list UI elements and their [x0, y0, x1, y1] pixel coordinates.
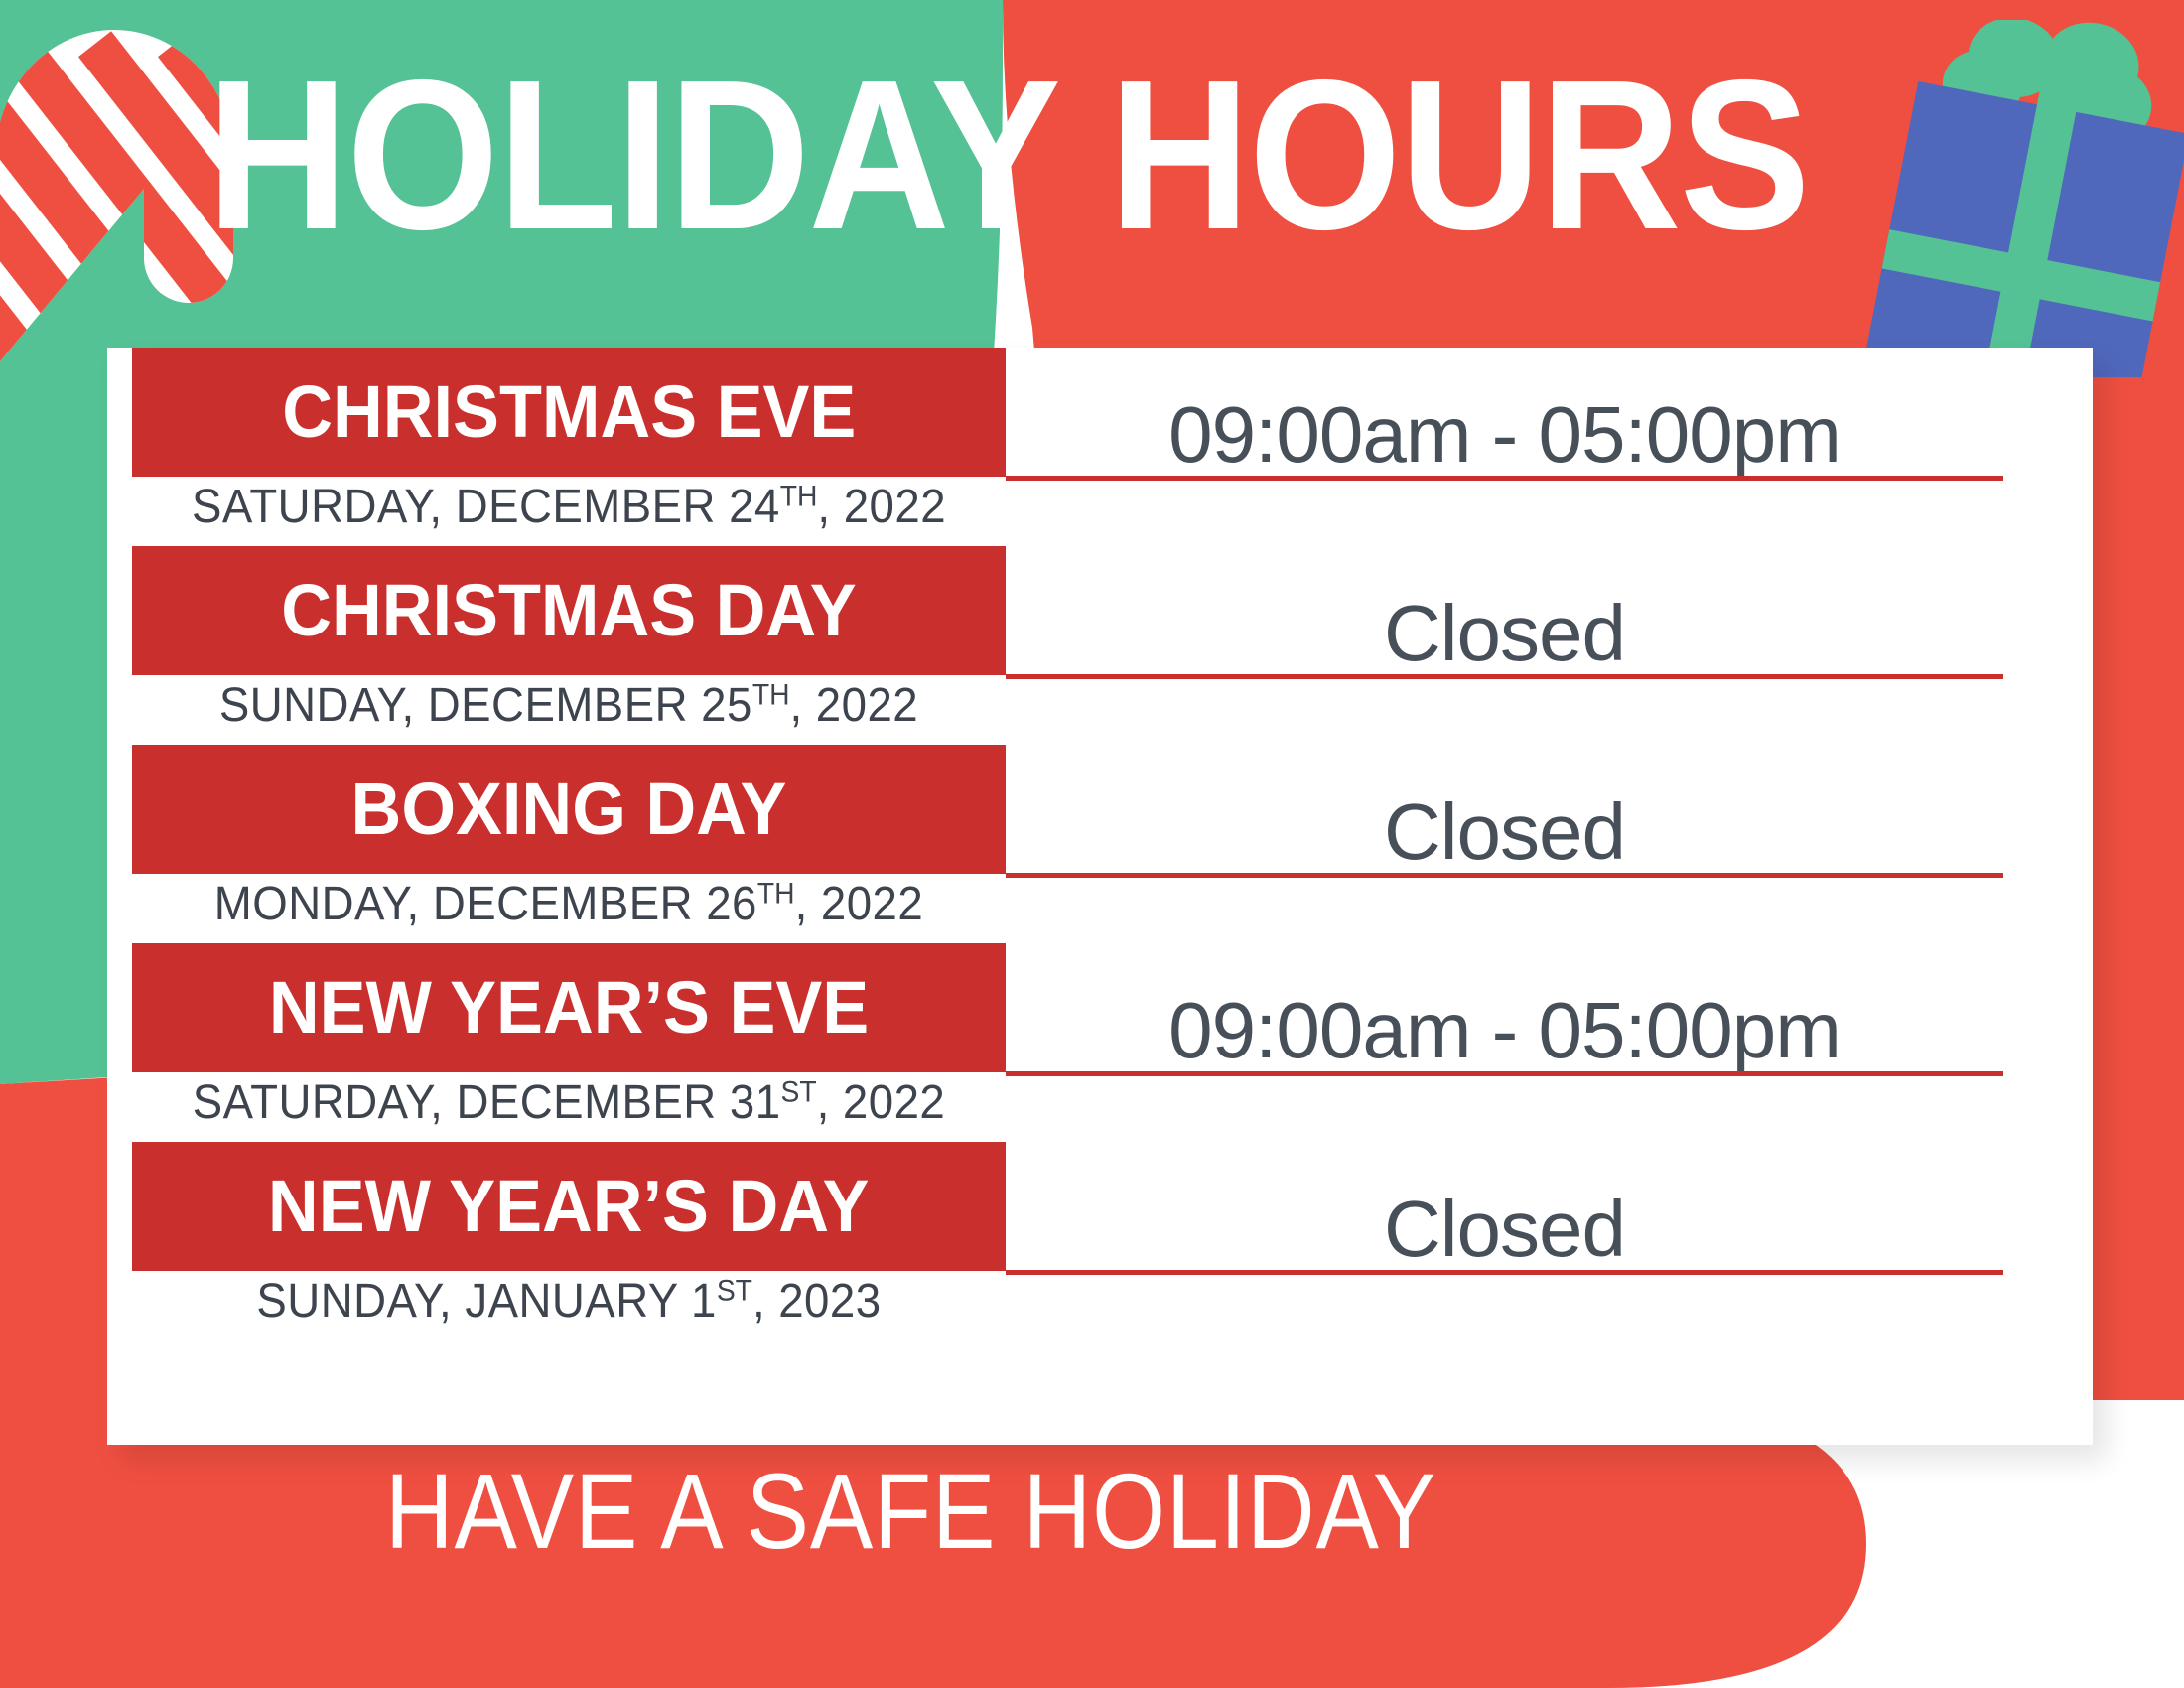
- row-hours-wrap: 09:00am - 05:00pm: [1006, 348, 2093, 477]
- row-date-ordinal: TH: [757, 878, 795, 911]
- row-date-ordinal: ST: [781, 1076, 817, 1109]
- row-date-ordinal: TH: [752, 679, 790, 712]
- row-date: SUNDAY, DECEMBER 25TH, 2022: [154, 678, 984, 733]
- row-hours-wrap: Closed: [1006, 546, 2093, 675]
- row-label-bar: CHRISTMAS EVE: [132, 348, 1006, 477]
- row-date-prefix: MONDAY, DECEMBER 26: [214, 878, 757, 930]
- row-hours-wrap: Closed: [1006, 745, 2093, 874]
- row-underline: [1006, 873, 2003, 878]
- row-underline: [1006, 674, 2003, 679]
- row-date-suffix: , 2022: [790, 679, 919, 732]
- schedule-rows: CHRISTMAS EVE SATURDAY, DECEMBER 24TH, 2…: [107, 348, 2093, 1445]
- row-hours-value: Closed: [1006, 1188, 2003, 1271]
- schedule-card: CHRISTMAS EVE SATURDAY, DECEMBER 24TH, 2…: [107, 348, 2093, 1445]
- row-date: SUNDAY, JANUARY 1ST, 2023: [154, 1274, 984, 1329]
- row-hours-wrap: 09:00am - 05:00pm: [1006, 943, 2093, 1072]
- page-title: HOLIDAY HOURS: [80, 48, 1935, 261]
- row-hours-value: Closed: [1006, 790, 2003, 874]
- row-date-ordinal: ST: [717, 1275, 752, 1308]
- table-row: BOXING DAY MONDAY, DECEMBER 26TH, 2022 C…: [107, 745, 2093, 943]
- row-date-prefix: SATURDAY, DECEMBER 31: [193, 1076, 781, 1129]
- row-date-prefix: SATURDAY, DECEMBER 24: [192, 481, 780, 533]
- row-label-bar: NEW YEAR’S EVE: [132, 943, 1006, 1072]
- row-label-bar: NEW YEAR’S DAY: [132, 1142, 1006, 1271]
- row-date: MONDAY, DECEMBER 26TH, 2022: [154, 877, 984, 931]
- table-row: CHRISTMAS EVE SATURDAY, DECEMBER 24TH, 2…: [107, 348, 2093, 546]
- row-holiday-name: NEW YEAR’S DAY: [268, 1170, 870, 1243]
- row-date-suffix: , 2022: [817, 481, 946, 533]
- holiday-hours-poster: HOLIDAY HOURS CHRISTMAS EVE SATURDAY, DE…: [0, 0, 2184, 1688]
- row-hours-wrap: Closed: [1006, 1142, 2093, 1271]
- row-date-ordinal: TH: [780, 481, 818, 513]
- table-row: NEW YEAR’S DAY SUNDAY, JANUARY 1ST, 2023…: [107, 1142, 2093, 1340]
- row-hours-value: 09:00am - 05:00pm: [1006, 393, 2003, 477]
- row-date: SATURDAY, DECEMBER 31ST, 2022: [154, 1075, 984, 1130]
- row-label-bar: CHRISTMAS DAY: [132, 546, 1006, 675]
- row-date-prefix: SUNDAY, DECEMBER 25: [219, 679, 752, 732]
- row-label-bar: BOXING DAY: [132, 745, 1006, 874]
- row-hours-value: 09:00am - 05:00pm: [1006, 989, 2003, 1072]
- row-date: SATURDAY, DECEMBER 24TH, 2022: [154, 480, 984, 534]
- row-date-suffix: , 2023: [752, 1275, 882, 1328]
- table-row: NEW YEAR’S EVE SATURDAY, DECEMBER 31ST, …: [107, 943, 2093, 1142]
- row-underline: [1006, 476, 2003, 481]
- row-underline: [1006, 1270, 2003, 1275]
- row-date-prefix: SUNDAY, JANUARY 1: [256, 1275, 716, 1328]
- footer-message: HAVE A SAFE HOLIDAY: [109, 1458, 1712, 1565]
- row-date-suffix: , 2022: [817, 1076, 946, 1129]
- row-hours-value: Closed: [1006, 592, 2003, 675]
- row-holiday-name: CHRISTMAS DAY: [281, 574, 856, 647]
- row-underline: [1006, 1071, 2003, 1076]
- row-date-suffix: , 2022: [795, 878, 924, 930]
- row-holiday-name: BOXING DAY: [351, 773, 787, 846]
- table-row: CHRISTMAS DAY SUNDAY, DECEMBER 25TH, 202…: [107, 546, 2093, 745]
- row-holiday-name: NEW YEAR’S EVE: [269, 971, 869, 1045]
- row-holiday-name: CHRISTMAS EVE: [282, 375, 856, 449]
